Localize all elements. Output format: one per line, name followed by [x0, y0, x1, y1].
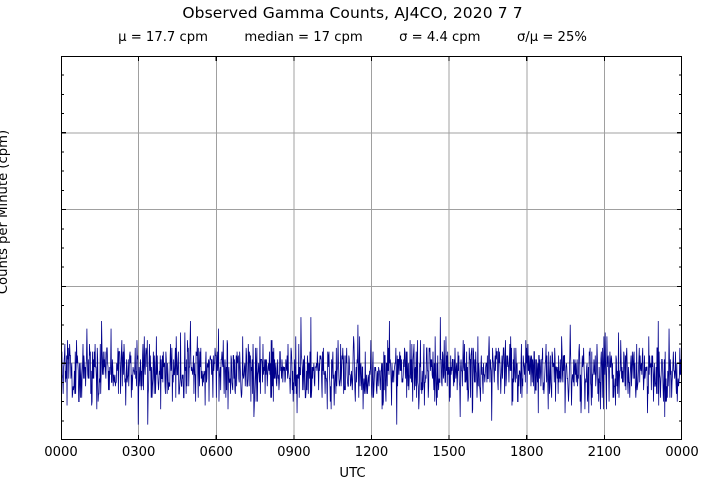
x-tick-label: 0600: [181, 445, 251, 460]
axis-ticks: [61, 56, 682, 440]
stat-mean: μ = 17.7 cpm: [118, 30, 208, 45]
x-tick-label: 0000: [647, 445, 705, 460]
chart-title: Observed Gamma Counts, AJ4CO, 2020 7 7: [0, 4, 705, 22]
x-tick-label: 0900: [259, 445, 329, 460]
stat-sigma: σ = 4.4 cpm: [399, 30, 480, 45]
stat-median: median = 17 cpm: [244, 30, 362, 45]
plot-area: [61, 56, 682, 440]
chart-figure: Observed Gamma Counts, AJ4CO, 2020 7 7 μ…: [0, 0, 705, 489]
x-tick-label: 1500: [414, 445, 484, 460]
stat-sigma-over-mean: σ/μ = 25%: [517, 30, 587, 45]
x-tick-label: 0000: [26, 445, 96, 460]
y-axis-label: Counts per Minute (cpm): [0, 112, 11, 312]
x-axis-label: UTC: [0, 466, 705, 481]
x-tick-label: 0300: [104, 445, 174, 460]
x-tick-label: 1800: [492, 445, 562, 460]
x-tick-label: 1200: [337, 445, 407, 460]
x-tick-label: 2100: [569, 445, 639, 460]
chart-subtitle: μ = 17.7 cpm median = 17 cpm σ = 4.4 cpm…: [0, 30, 705, 45]
